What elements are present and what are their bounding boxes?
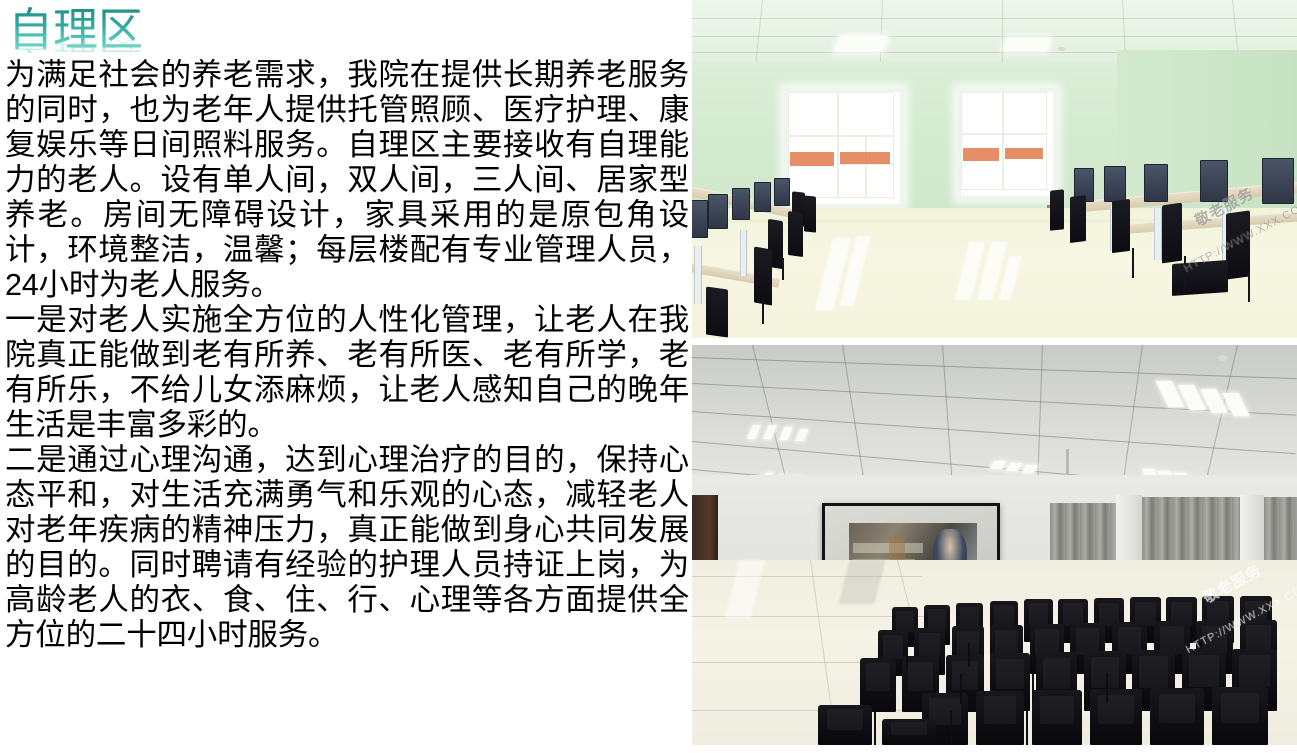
chair xyxy=(1112,199,1130,253)
chair xyxy=(1226,210,1250,279)
paragraph-1: 为满足社会的养老需求，我院在提供长期养老服务的同时，也为老年人提供托管照顾、医疗… xyxy=(5,58,689,303)
chair xyxy=(1150,688,1204,745)
desk-leg xyxy=(1154,208,1162,260)
monitor xyxy=(1262,158,1294,204)
photo-column: 敬老服务 HTTP://WWW.XXX.COM/INDEX.ASPX xyxy=(692,0,1297,753)
chair xyxy=(1172,260,1228,296)
window-right xyxy=(957,88,1057,200)
monitor xyxy=(774,178,790,206)
monitor xyxy=(754,182,771,212)
text-column: 自理区 自理区 为满足社会的养老需求，我院在提供长期养老服务的同时，也为老年人提… xyxy=(0,0,690,753)
chair-leg xyxy=(1184,256,1186,286)
monitor xyxy=(692,200,708,238)
page-title: 自理区 xyxy=(8,4,143,56)
chair-leg xyxy=(906,645,908,669)
chair xyxy=(976,691,1024,745)
chair xyxy=(1162,203,1182,264)
chair-leg xyxy=(782,258,784,280)
chair xyxy=(860,658,896,712)
chair-leg xyxy=(1032,641,1034,665)
chair xyxy=(1050,189,1064,230)
ceiling-light xyxy=(1003,38,1050,51)
chair-leg xyxy=(960,674,962,704)
chair xyxy=(1090,689,1142,745)
chair xyxy=(804,195,816,232)
photo-computer-lab: 敬老服务 HTTP://WWW.XXX.COM/INDEX.ASPX xyxy=(692,0,1297,338)
chair-leg xyxy=(762,300,764,324)
slide-root: 自理区 自理区 为满足社会的养老需求，我院在提供长期养老服务的同时，也为老年人提… xyxy=(0,0,1297,753)
monitor xyxy=(1104,166,1126,202)
monitor xyxy=(1144,164,1168,202)
paragraph-3: 二是通过心理沟通，达到心理治疗的目的，保持心态平和，对生活充满勇气和乐观的心态，… xyxy=(5,443,689,653)
lab-scene: 敬老服务 HTTP://WWW.XXX.COM/INDEX.ASPX xyxy=(692,0,1297,338)
chair-leg xyxy=(1106,673,1108,703)
chair-leg xyxy=(968,643,970,667)
smoke-detector-icon xyxy=(1218,355,1228,361)
chair-leg xyxy=(874,711,876,745)
paragraph-2: 一是对老人实施全方位的人性化管理，让老人在我院真正能做到老有所养、老有所医、老有… xyxy=(5,303,689,443)
hall-scene: 敬老服务 HTTP://WWW.XXX.COM/INDEX.ASPX xyxy=(692,345,1297,745)
chair xyxy=(788,211,803,257)
chair-leg xyxy=(1132,248,1134,278)
chair xyxy=(1212,687,1268,745)
photo-auditorium: 敬老服务 HTTP://WWW.XXX.COM/INDEX.ASPX xyxy=(692,345,1297,745)
smoke-detector-icon xyxy=(1058,47,1065,51)
window-left xyxy=(784,88,904,208)
chair xyxy=(882,719,936,745)
chair xyxy=(1032,690,1082,745)
desk-leg xyxy=(740,230,747,276)
chair xyxy=(1070,195,1086,243)
body-text-block: 为满足社会的养老需求，我院在提供长期养老服务的同时，也为老年人提供托管照顾、医疗… xyxy=(5,58,689,653)
chair xyxy=(706,286,728,337)
chair xyxy=(754,246,772,305)
chair-leg xyxy=(1248,272,1250,302)
desk-leg xyxy=(694,246,702,304)
chair xyxy=(818,705,872,745)
ceiling-light xyxy=(834,36,888,52)
monitor xyxy=(732,188,750,220)
monitor xyxy=(1200,160,1228,202)
chair-leg xyxy=(894,675,896,705)
chair-leg xyxy=(1032,673,1034,703)
monitor xyxy=(708,194,728,229)
chair-leg xyxy=(950,711,952,745)
chair-leg xyxy=(1026,711,1028,745)
